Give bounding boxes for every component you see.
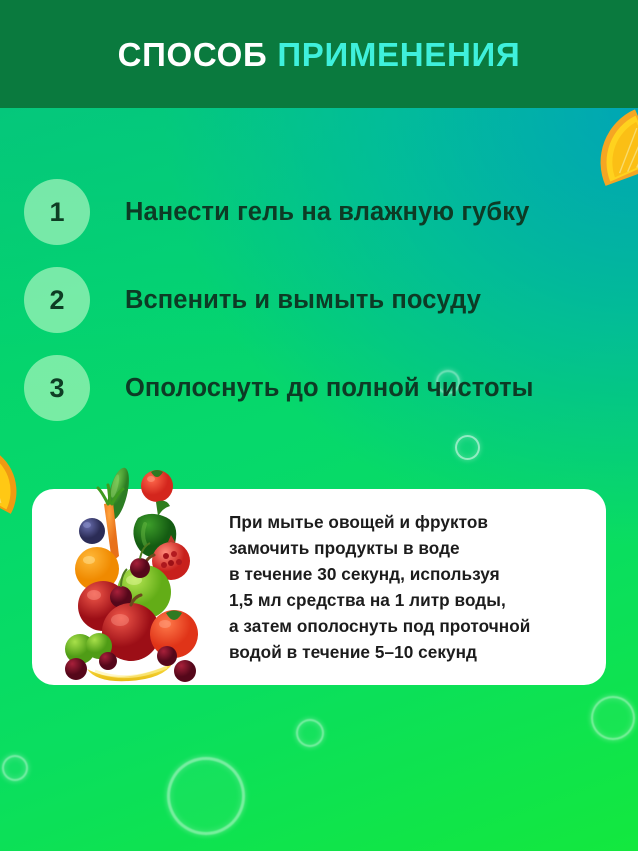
page-title-part-2: ПРИМЕНЕНИЯ <box>277 36 520 73</box>
step-item-3[interactable]: 3 Ополоснуть до полной чистоты <box>0 344 638 432</box>
step-item-2[interactable]: 2 Вспенить и вымыть посуду <box>0 256 638 344</box>
steps-list: 1 Нанести гель на влажную губку 2 Вспени… <box>0 168 638 432</box>
step-number-badge: 1 <box>24 179 90 245</box>
step-label: Нанести гель на влажную губку <box>125 198 529 227</box>
info-card: При мытье овощей и фруктов замочить прод… <box>32 489 606 685</box>
step-label: Вспенить и вымыть посуду <box>125 286 481 315</box>
info-card-line: водой в течение 5–10 секунд <box>229 639 530 665</box>
page-title: СПОСОБ ПРИМЕНЕНИЯ <box>118 38 521 71</box>
promo-poster: СПОСОБ ПРИМЕНЕНИЯ <box>0 0 638 851</box>
header-banner: СПОСОБ ПРИМЕНЕНИЯ <box>0 0 638 108</box>
page-title-part-1: СПОСОБ <box>118 36 268 73</box>
info-card-line: в течение 30 секунд, используя <box>229 561 530 587</box>
step-label: Ополоснуть до полной чистоты <box>125 374 534 403</box>
info-card-text: При мытье овощей и фруктов замочить прод… <box>229 509 530 666</box>
info-card-line: а затем ополоснуть под проточной <box>229 613 530 639</box>
step-number-badge: 2 <box>24 267 90 333</box>
step-item-1[interactable]: 1 Нанести гель на влажную губку <box>0 168 638 256</box>
step-number-badge: 3 <box>24 355 90 421</box>
info-card-line: 1,5 мл средства на 1 литр воды, <box>229 587 530 613</box>
info-card-line: замочить продукты в воде <box>229 535 530 561</box>
info-card-line: При мытье овощей и фруктов <box>229 509 530 535</box>
